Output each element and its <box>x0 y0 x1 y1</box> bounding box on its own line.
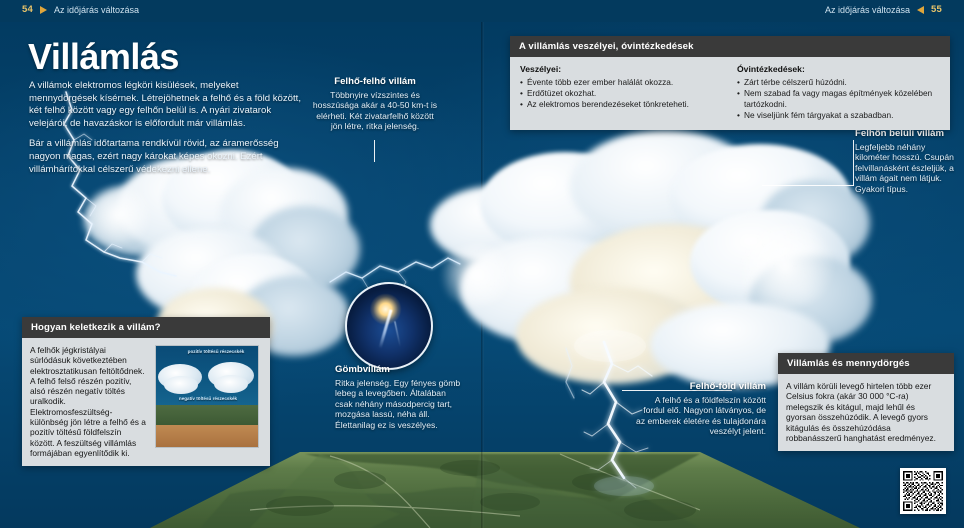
intro-text: A villámok elektromos légköri kisülések,… <box>29 80 301 176</box>
list-item: Erdőtüzet okozhat. <box>520 88 723 99</box>
connector-intra-cloud <box>762 185 854 186</box>
how-panel-title: Hogyan keletkezik a villám? <box>22 317 270 338</box>
page-header: 54 Az időjárás változása Az időjárás vál… <box>0 0 964 22</box>
callout-ball-lightning: Gömbvillám Ritka jelenség. Egy fényes gö… <box>335 364 463 431</box>
callout-ball-lightning-body: Ritka jelenség. Egy fényes gömb lebeg a … <box>335 378 463 431</box>
how-panel-text: A felhők jégkristályai súrlódásuk követk… <box>30 345 148 458</box>
infographic-page: 54 Az időjárás változása Az időjárás vál… <box>0 0 964 528</box>
connector-cloud-to-cloud <box>374 140 375 162</box>
callout-cloud-to-cloud-body: Többnyire vízszintes és hosszúsága akár … <box>310 90 440 132</box>
diagram-cloud-right-base <box>214 375 248 393</box>
left-page-number: 54 <box>22 4 33 15</box>
dangers-panel-body: Veszélyei: Évente több ezer ember halálá… <box>510 57 950 130</box>
dangers-panel-title: A villámlás veszélyei, óvintézkedések <box>510 36 950 57</box>
header-right: Az időjárás változása 55 <box>825 4 942 15</box>
diagram-ground <box>156 405 258 425</box>
diagram-positive-label: pozitív töltésű részecskék <box>180 349 252 354</box>
list-item: Ne viseljünk fém tárgyakat a szabadban. <box>737 110 940 121</box>
ball-lightning-streak <box>378 310 392 349</box>
thunder-panel-title: Villámlás és mennydörgés <box>778 353 954 374</box>
callout-cloud-to-ground-body: A felhő és a földfelszín között fordul e… <box>634 395 766 437</box>
header-left: 54 Az időjárás változása <box>22 4 139 15</box>
diagram-cloud-left-base <box>164 376 198 394</box>
thunder-panel: Villámlás és mennydörgés A villám körüli… <box>778 353 954 451</box>
dangers-list: Évente több ezer ember halálát okozza. E… <box>520 77 723 110</box>
list-item: Évente több ezer ember halálát okozza. <box>520 77 723 88</box>
list-item: Zárt térbe célszerű húzódni. <box>737 77 940 88</box>
how-panel-body: A felhők jégkristályai súrlódásuk követk… <box>22 338 270 466</box>
dangers-precautions-panel: A villámlás veszélyei, óvintézkedések Ve… <box>510 36 950 130</box>
dangers-column: Veszélyei: Évente több ezer ember halálá… <box>520 64 723 121</box>
dangers-heading: Veszélyei: <box>520 64 723 74</box>
intro-paragraph-2: Bár a villámlás időtartama rendkívül röv… <box>29 138 301 176</box>
thunder-panel-body: A villám körüli levegő hirtelen több eze… <box>778 374 954 451</box>
intro-paragraph-1: A villámok elektromos légköri kisülések,… <box>29 80 301 130</box>
callout-intra-cloud: Felhőn belüli villám Legfeljebb néhány k… <box>855 128 959 195</box>
page-gutter <box>481 0 484 528</box>
right-section-title: Az időjárás változása <box>825 5 910 15</box>
callout-cloud-to-ground-heading: Felhő-föld villám <box>634 381 766 393</box>
precautions-list: Zárt térbe célszerű húzódni. Nem szabad … <box>737 77 940 121</box>
precautions-column: Óvintézkedések: Zárt térbe célszerű húzó… <box>737 64 940 121</box>
how-lightning-forms-panel: Hogyan keletkezik a villám? A felhők jég… <box>22 317 270 466</box>
triangle-left-icon <box>917 6 924 14</box>
precautions-heading: Óvintézkedések: <box>737 64 940 74</box>
page-title: Villámlás <box>28 36 179 78</box>
triangle-right-icon <box>40 6 47 14</box>
qr-code[interactable] <box>900 468 946 514</box>
diagram-negative-label: negatív töltésű részecskék <box>172 396 244 401</box>
callout-cloud-to-cloud: Felhő-felhő villám Többnyire vízszintes … <box>310 76 440 132</box>
qr-code-icon <box>903 471 943 511</box>
connector-intra-cloud-vert <box>853 140 854 186</box>
charge-separation-diagram: pozitív töltésű részecskék negatív tölté… <box>155 345 259 448</box>
callout-intra-cloud-body: Legfeljebb néhány kilométer hosszú. Csup… <box>855 142 959 195</box>
callout-cloud-to-ground: Felhő-föld villám A felhő és a földfelsz… <box>634 381 766 437</box>
list-item: Nem szabad fa vagy magas építmények köze… <box>737 88 940 110</box>
left-section-title: Az időjárás változása <box>54 5 139 15</box>
callout-cloud-to-cloud-heading: Felhő-felhő villám <box>310 76 440 88</box>
callout-ball-lightning-heading: Gömbvillám <box>335 364 463 376</box>
diagram-soil <box>156 425 258 447</box>
ball-lightning-streak-secondary <box>395 321 402 347</box>
list-item: Az elektromos berendezéseket tönkretehet… <box>520 99 723 110</box>
ball-lightning-photo <box>345 282 433 370</box>
right-page-number: 55 <box>931 4 942 15</box>
